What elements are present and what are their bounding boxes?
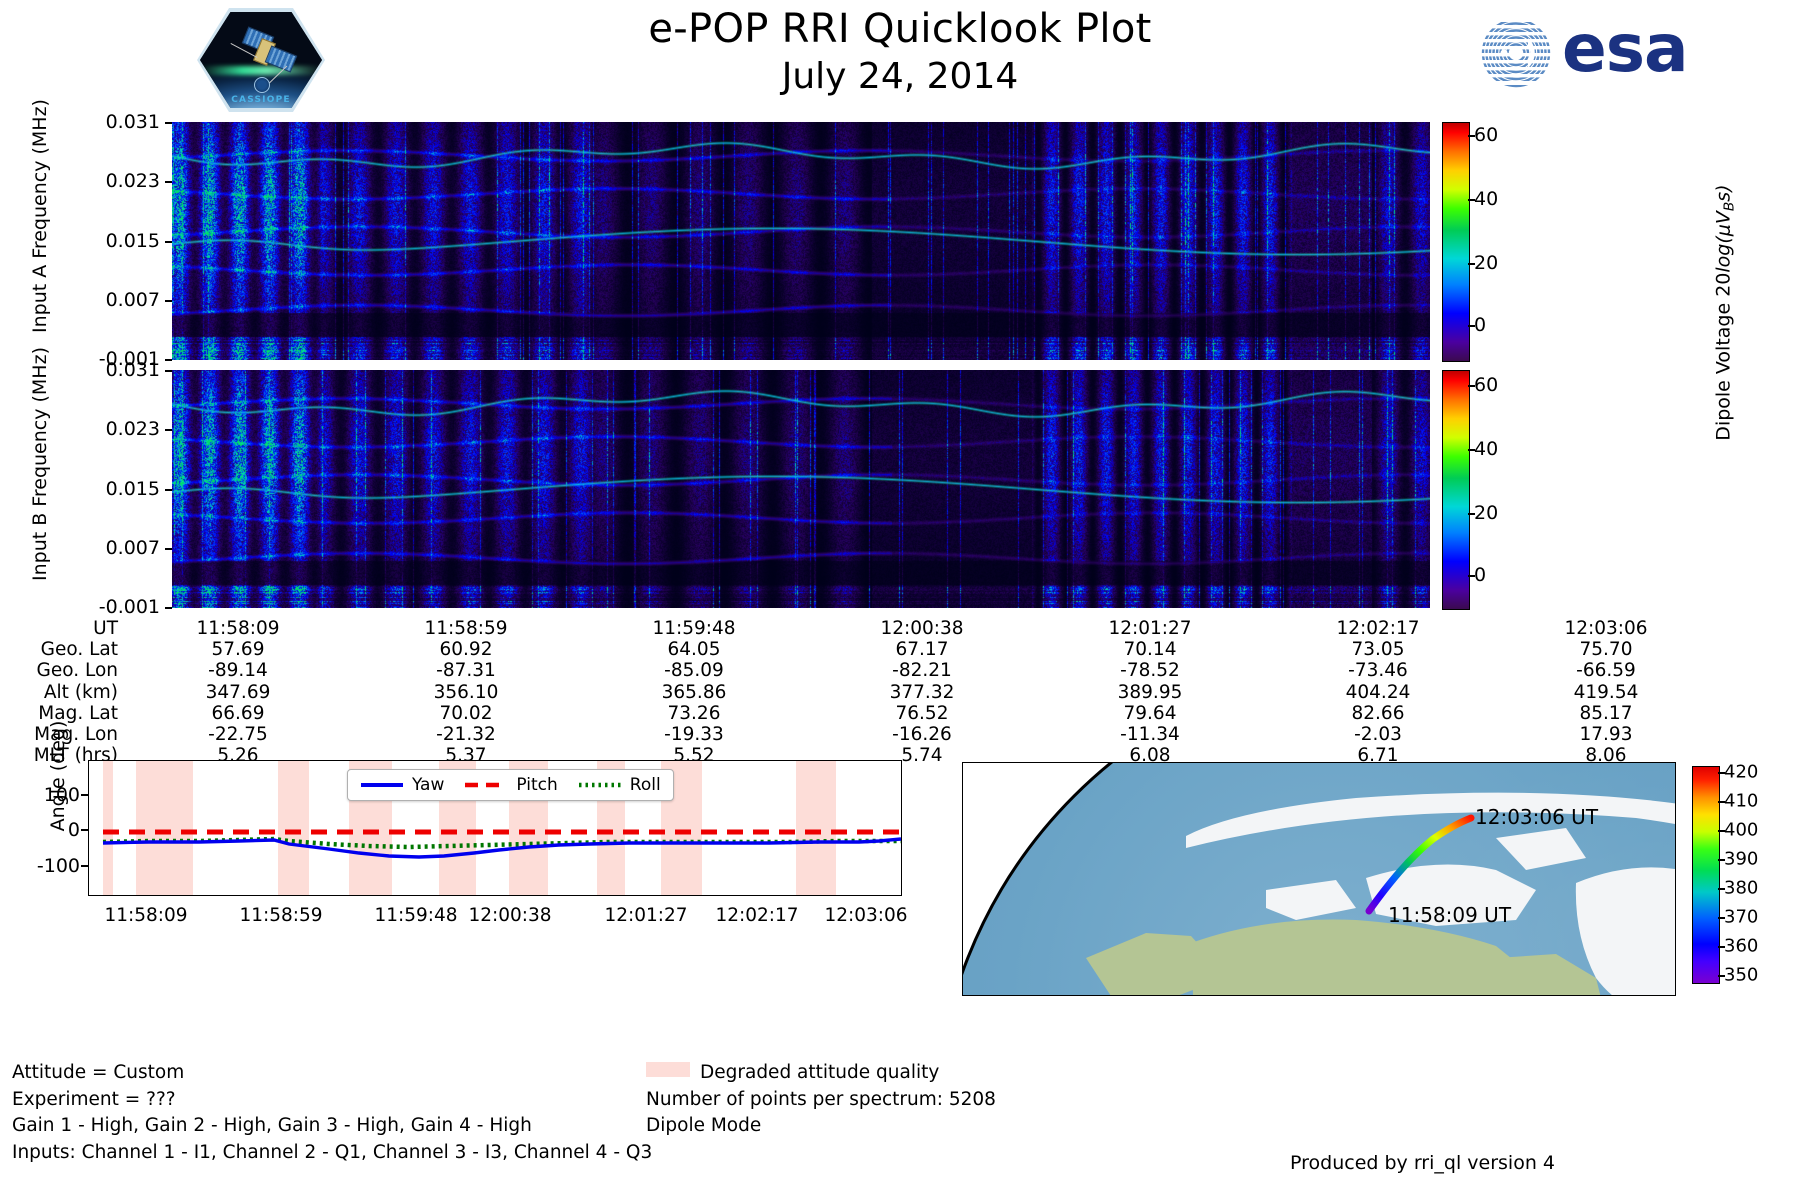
panel-a-tickmark <box>165 241 172 243</box>
row-label-ut: UT <box>0 618 124 639</box>
cell-maglat-5: 82.66 <box>1264 703 1492 724</box>
cell-geolat-5: 73.05 <box>1264 639 1492 660</box>
cell-maglat-3: 76.52 <box>808 703 1036 724</box>
cell-geolon-6: -66.59 <box>1492 660 1720 681</box>
altitude-colorbar-label: Altitude (km) <box>1742 860 1800 884</box>
colorbar-tickmark <box>1468 575 1475 577</box>
colorbar-tickmark <box>1468 199 1475 201</box>
colorbar-tick-0-b: 0 <box>1474 564 1486 586</box>
colorbar-tickmark <box>1468 449 1475 451</box>
legend-label-pitch: Pitch <box>516 775 557 795</box>
cell-geolon-0: -89.14 <box>124 660 352 681</box>
center-info-block: Degraded attitude quality Number of poin… <box>646 1060 996 1140</box>
panel-a-tickmark <box>165 122 172 124</box>
cell-geolon-2: -85.09 <box>580 660 808 681</box>
cell-geolat-4: 70.14 <box>1036 639 1264 660</box>
colorbar-tick-0: 0 <box>1474 314 1486 336</box>
colorbar-tick-20-b: 20 <box>1474 502 1498 524</box>
colorbar-tickmark <box>1468 385 1475 387</box>
colorbar-tickmark <box>1468 263 1475 265</box>
cell-maglon-5: -2.03 <box>1264 724 1492 745</box>
panel-b-tickmark <box>165 548 172 550</box>
altitude-tick-350: 350 <box>1724 965 1758 986</box>
map-label-end: 12:03:06 UT <box>1475 805 1598 829</box>
panel-b-ytick-1: 0.023 <box>50 429 160 451</box>
colorbar-tick-40-b: 40 <box>1474 438 1498 460</box>
page-title: e-POP RRI Quicklook Plot July 24, 2014 <box>380 4 1420 100</box>
cell-maglon-0: -22.75 <box>124 724 352 745</box>
cell-alt-4: 389.95 <box>1036 682 1264 703</box>
cassiope-logo-caption: CASSIOPE <box>200 95 322 105</box>
colorbar-tickmark <box>1468 135 1475 137</box>
altitude-tick-420: 420 <box>1724 762 1758 783</box>
altitude-tick-410: 410 <box>1724 791 1758 812</box>
attitude-ytick-0: 0 <box>0 819 80 841</box>
colorbar-tickmark <box>1468 325 1475 327</box>
colorbar-label-sub: B <box>1722 202 1738 211</box>
attitude-plot[interactable]: Yaw Pitch Roll <box>88 760 902 896</box>
cell-maglat-0: 66.69 <box>124 703 352 724</box>
esa-wordmark: esa <box>1562 12 1688 86</box>
points-per-spectrum: Number of points per spectrum: 5208 <box>646 1087 996 1114</box>
info-gains: Gain 1 - High, Gain 2 - High, Gain 3 - H… <box>12 1113 652 1140</box>
cell-geolat-1: 60.92 <box>352 639 580 660</box>
map-label-start: 11:58:09 UT <box>1388 903 1511 927</box>
panel-a-ylabel: Input A Frequency (MHz) <box>0 205 160 227</box>
colorbar-tickmark <box>1468 513 1475 515</box>
table-row: Geo. Lon -89.14 -87.31 -85.09 -82.21 -78… <box>0 660 1720 681</box>
cell-geolon-5: -73.46 <box>1264 660 1492 681</box>
attitude-xtick-0: 11:58:09 <box>76 905 216 926</box>
panel-b-ytick-2: 0.015 <box>50 489 160 511</box>
cell-geolat-0: 57.69 <box>124 639 352 660</box>
cell-geolat-3: 67.17 <box>808 639 1036 660</box>
legend-item-roll: Roll <box>578 775 661 795</box>
altitude-tickmark <box>1718 801 1725 803</box>
panel-a-tickmark <box>165 359 172 361</box>
esa-swirl-icon <box>1470 18 1562 88</box>
panel-b-ylabel: Input B Frequency (MHz) <box>0 453 160 475</box>
panel-a-ytick-0: 0.031 <box>50 122 160 144</box>
attitude-xtick-6: 12:03:06 <box>796 905 936 926</box>
yaw-trace <box>103 839 901 857</box>
colorbar-tick-60-b: 60 <box>1474 374 1498 396</box>
spectrogram-panel-b[interactable] <box>172 370 1430 608</box>
degraded-legend-row: Degraded attitude quality <box>646 1060 996 1087</box>
attitude-xtick-3: 12:00:38 <box>440 905 580 926</box>
altitude-tickmark <box>1718 830 1725 832</box>
cell-alt-1: 356.10 <box>352 682 580 703</box>
colorbar-tick-20: 20 <box>1474 252 1498 274</box>
cell-geolon-3: -82.21 <box>808 660 1036 681</box>
panel-b-ytick-3: 0.007 <box>50 548 160 570</box>
attitude-ytick-neg100: -100 <box>0 855 80 877</box>
legend-item-yaw: Yaw <box>360 775 444 795</box>
panel-b-ytick-0: 0.031 <box>50 370 160 392</box>
cell-geolon-4: -78.52 <box>1036 660 1264 681</box>
altitude-tick-370: 370 <box>1724 907 1758 928</box>
panel-a-tickmark <box>165 300 172 302</box>
cell-ut-1: 11:58:59 <box>352 618 580 639</box>
cell-geolon-1: -87.31 <box>352 660 580 681</box>
cell-alt-5: 404.24 <box>1264 682 1492 703</box>
panel-b-tickmark <box>165 607 172 609</box>
panel-a-tickmark <box>165 181 172 183</box>
roll-line-icon <box>578 779 622 791</box>
panel-a-ytick-2: 0.015 <box>50 241 160 263</box>
panel-a-ylabel-text: Input A Frequency (MHz) <box>29 96 51 336</box>
table-row: Alt (km) 347.69 356.10 365.86 377.32 389… <box>0 682 1720 703</box>
colorbar-tick-40: 40 <box>1474 188 1498 210</box>
altitude-colorbar <box>1692 766 1720 984</box>
info-inputs: Inputs: Channel 1 - I1, Channel 2 - Q1, … <box>12 1140 652 1167</box>
table-row: Mag. Lat 66.69 70.02 73.26 76.52 79.64 8… <box>0 703 1720 724</box>
cell-ut-3: 12:00:38 <box>808 618 1036 639</box>
legend-label-roll: Roll <box>630 775 661 795</box>
dipole-voltage-colorbar-a <box>1442 122 1470 362</box>
info-block: Attitude = Custom Experiment = ??? Gain … <box>12 1060 652 1166</box>
esa-logo: esa <box>1470 14 1720 92</box>
altitude-tickmark <box>1718 859 1725 861</box>
spectrogram-panel-a[interactable] <box>172 122 1430 360</box>
cell-alt-6: 419.54 <box>1492 682 1720 703</box>
cell-ut-4: 12:01:27 <box>1036 618 1264 639</box>
cassiope-logo: CASSIOPE <box>197 7 325 113</box>
cell-maglon-4: -11.34 <box>1036 724 1264 745</box>
attitude-tickmark <box>81 794 88 796</box>
panel-b-ylabel-text: Input B Frequency (MHz) <box>29 344 51 584</box>
table-row: Geo. Lat 57.69 60.92 64.05 67.17 70.14 7… <box>0 639 1720 660</box>
cell-alt-0: 347.69 <box>124 682 352 703</box>
cell-maglat-4: 79.64 <box>1036 703 1264 724</box>
cell-maglon-1: -21.32 <box>352 724 580 745</box>
panel-a-ytick-1: 0.023 <box>50 181 160 203</box>
cell-alt-2: 365.86 <box>580 682 808 703</box>
attitude-tickmark <box>81 829 88 831</box>
attitude-xtick-1: 11:58:59 <box>211 905 351 926</box>
degraded-color-swatch <box>646 1062 690 1077</box>
altitude-tickmark <box>1718 772 1725 774</box>
cell-maglat-1: 70.02 <box>352 703 580 724</box>
panel-b-tickmark <box>165 489 172 491</box>
panel-b-tickmark <box>165 370 172 372</box>
orbit-track <box>963 763 1675 995</box>
cell-maglon-3: -16.26 <box>808 724 1036 745</box>
colorbar-tick-60: 60 <box>1474 124 1498 146</box>
legend-item-pitch: Pitch <box>464 775 557 795</box>
altitude-tickmark <box>1718 917 1725 919</box>
colorbar-label-italic: log(μV <box>1712 211 1734 272</box>
title-main: e-POP RRI Quicklook Plot <box>380 4 1420 54</box>
attitude-ytick-100: 100 <box>0 784 80 806</box>
attitude-tickmark <box>81 865 88 867</box>
yaw-line-icon <box>360 779 404 791</box>
cell-maglat-6: 85.17 <box>1492 703 1720 724</box>
cell-maglon-6: 17.93 <box>1492 724 1720 745</box>
pitch-line-icon <box>464 779 508 791</box>
info-experiment: Experiment = ??? <box>12 1087 652 1114</box>
cell-ut-2: 11:59:48 <box>580 618 808 639</box>
panel-a-ytick-3: 0.007 <box>50 300 160 322</box>
cell-geolat-2: 64.05 <box>580 639 808 660</box>
altitude-tick-400: 400 <box>1724 820 1758 841</box>
table-row: UT 11:58:09 11:58:59 11:59:48 12:00:38 1… <box>0 618 1720 639</box>
altitude-tickmark <box>1718 946 1725 948</box>
cell-alt-3: 377.32 <box>808 682 1036 703</box>
table-row: Mag. Lon -22.75 -21.32 -19.33 -16.26 -11… <box>0 724 1720 745</box>
credit-text: Produced by rri_ql version 4 <box>1290 1152 1555 1174</box>
dipole-voltage-colorbar-b <box>1442 370 1470 610</box>
cell-ut-5: 12:02:17 <box>1264 618 1492 639</box>
ephemeris-table: UT 11:58:09 11:58:59 11:59:48 12:00:38 1… <box>0 618 1720 766</box>
degraded-legend-label: Degraded attitude quality <box>700 1062 939 1083</box>
panel-b-tickmark <box>165 429 172 431</box>
legend-label-yaw: Yaw <box>412 775 444 795</box>
dipole-mode: Dipole Mode <box>646 1113 996 1140</box>
cell-geolat-6: 75.70 <box>1492 639 1720 660</box>
cell-maglat-2: 73.26 <box>580 703 808 724</box>
colorbar-axis-label: Dipole Voltage 20log(μVBs) <box>1515 300 1800 325</box>
altitude-tickmark <box>1718 975 1725 977</box>
cell-ut-6: 12:03:06 <box>1492 618 1720 639</box>
altitude-tickmark <box>1718 888 1725 890</box>
cell-ut-0: 11:58:09 <box>124 618 352 639</box>
info-attitude: Attitude = Custom <box>12 1060 652 1087</box>
colorbar-label-pre: Dipole Voltage 20 <box>1712 273 1734 441</box>
attitude-legend: Yaw Pitch Roll <box>347 769 674 801</box>
cell-maglon-2: -19.33 <box>580 724 808 745</box>
altitude-tick-360: 360 <box>1724 936 1758 957</box>
title-date: July 24, 2014 <box>380 54 1420 100</box>
orbit-map[interactable]: 11:58:09 UT 12:03:06 UT <box>962 762 1676 996</box>
colorbar-label-post: s) <box>1712 184 1734 201</box>
